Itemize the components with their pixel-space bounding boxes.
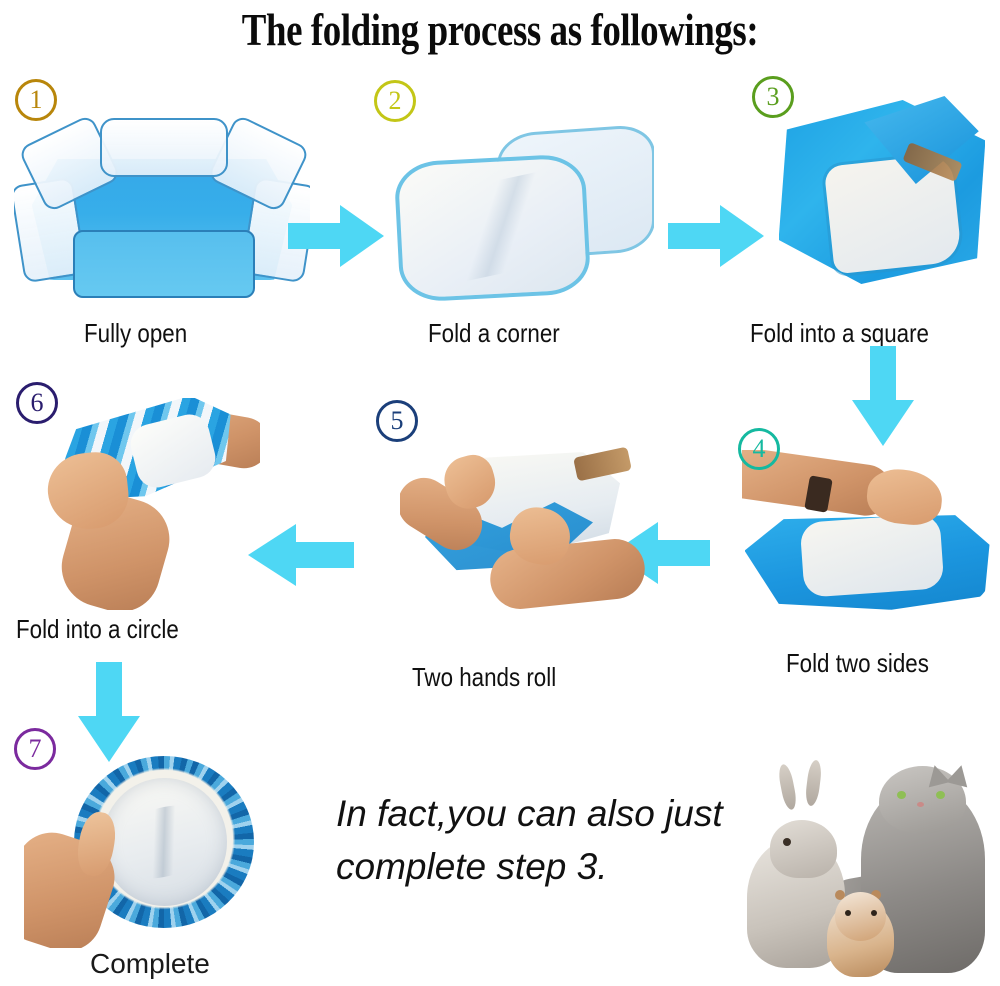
step-7-badge: 7 — [14, 728, 56, 770]
step-6-badge: 6 — [16, 382, 58, 424]
step-1-number: 1 — [30, 87, 43, 113]
carry-strap — [573, 447, 632, 482]
step-4-caption: Fold two sides — [786, 648, 929, 679]
step-5-number: 5 — [391, 408, 404, 434]
step-4-photo — [742, 450, 992, 620]
arrow-step5-to-step6 — [248, 524, 354, 586]
step-4-badge: 4 — [738, 428, 780, 470]
step-1-photo — [14, 108, 310, 304]
arrow-step1-to-step2 — [288, 205, 384, 267]
step-4-number: 4 — [753, 436, 766, 462]
hamster-illustration — [742, 762, 1000, 986]
step-5-caption: Two hands roll — [412, 662, 556, 693]
step-7-caption: Complete — [90, 948, 210, 980]
arrow-step3-to-step4 — [852, 346, 914, 446]
step-7-number: 7 — [29, 736, 42, 762]
step-2-photo — [392, 118, 654, 302]
playpen-floor — [73, 230, 255, 299]
step-3-number: 3 — [767, 84, 780, 110]
pet-playpen-illustration — [14, 108, 310, 304]
infographic-canvas: The folding process as followings: 1 Ful… — [0, 0, 1000, 986]
step-2-caption: Fold a corner — [428, 318, 560, 349]
step-1-caption: Fully open — [84, 318, 187, 349]
step-5-badge: 5 — [376, 400, 418, 442]
arrow-step6-to-step7 — [78, 662, 140, 762]
step-6-caption: Fold into a circle — [16, 614, 179, 645]
bottom-note: In fact,you can also just complete step … — [336, 788, 796, 893]
inner-white-mesh — [800, 513, 945, 597]
hamster-eye — [845, 910, 851, 916]
step-2-badge: 2 — [374, 80, 416, 122]
step-3-caption: Fold into a square — [750, 318, 929, 349]
animals-group — [742, 762, 1000, 986]
playpen-mesh-panel — [100, 118, 228, 177]
step-6-photo — [24, 398, 260, 610]
step-2-number: 2 — [389, 88, 402, 114]
step-5-photo — [400, 420, 650, 620]
hamster-eye — [871, 910, 877, 916]
step-6-number: 6 — [31, 390, 44, 416]
step-3-photo — [772, 92, 992, 292]
arrow-step2-to-step3 — [668, 205, 764, 267]
page-title: The folding process as followings: — [90, 4, 910, 56]
step-3-badge: 3 — [752, 76, 794, 118]
step-1-badge: 1 — [15, 79, 57, 121]
step-7-photo — [24, 748, 274, 948]
